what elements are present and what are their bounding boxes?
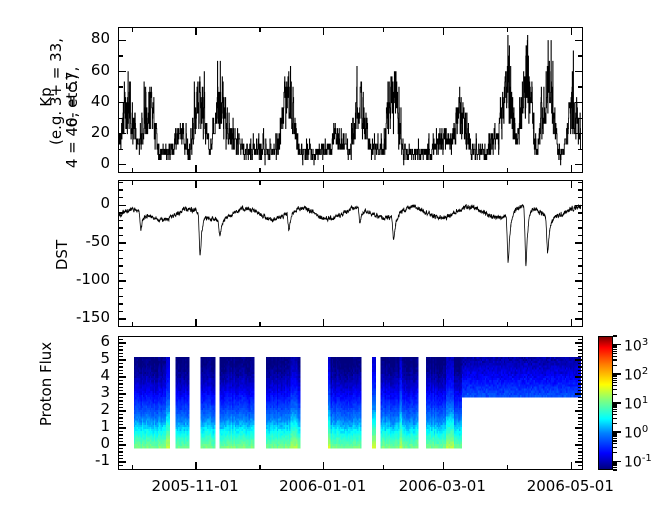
colorbar-tick-minor: [613, 447, 617, 448]
ytick-minor: [578, 197, 582, 198]
ytick-minor: [578, 356, 582, 357]
xtick-major: [443, 181, 444, 188]
ytick-minor: [578, 339, 582, 340]
xtick-minor: [383, 322, 384, 326]
ytick-minor: [119, 366, 123, 367]
colorbar-tick-minor: [613, 356, 617, 357]
ytick-minor: [119, 212, 123, 213]
ytick-major: [119, 242, 126, 243]
ytick-minor: [578, 451, 582, 452]
colorbar-tick-minor: [613, 394, 617, 395]
ytick-major: [119, 205, 126, 206]
ytick-major: [119, 164, 126, 165]
xtick-minor: [383, 465, 384, 469]
ytick-major: [575, 102, 582, 103]
ytick-label: 1: [52, 419, 110, 434]
colorbar-tick-minor: [613, 462, 617, 463]
xtick-major: [323, 319, 324, 326]
ytick-minor: [119, 288, 123, 289]
ytick-minor: [578, 250, 582, 251]
colorbar-tick-label: 103: [624, 336, 648, 354]
figure-canvas: 806040200 Kp (e.g. 3+ = 33, 6- = 57, 4 =…: [0, 0, 665, 523]
colorbar-tick-minor: [613, 349, 617, 350]
ytick-minor: [578, 227, 582, 228]
ytick-minor: [578, 363, 582, 364]
ytick-minor: [119, 451, 123, 452]
ytick-major: [119, 71, 126, 72]
ytick-minor: [119, 448, 123, 449]
xtick-minor: [132, 28, 133, 32]
xtick-major: [195, 319, 196, 326]
ytick-major: [575, 461, 582, 462]
ytick-minor: [119, 434, 123, 435]
ytick-minor: [578, 55, 582, 56]
ytick-minor: [578, 421, 582, 422]
ytick-major: [575, 444, 582, 445]
ytick-minor: [578, 465, 582, 466]
ytick-minor: [578, 311, 582, 312]
xtick-major: [195, 165, 196, 172]
ytick-major: [119, 133, 126, 134]
ytick-minor: [119, 349, 123, 350]
ytick-minor: [119, 424, 123, 425]
colorbar-tick-minor: [613, 452, 617, 453]
ytick-minor: [578, 296, 582, 297]
ytick-minor: [578, 288, 582, 289]
ytick-minor: [578, 265, 582, 266]
xtick-minor: [132, 181, 133, 185]
colorbar: 10310210110010-1: [598, 336, 613, 470]
colorbar-label-mantissa: 10: [624, 426, 642, 442]
ytick-minor: [578, 424, 582, 425]
colorbar-tick-label: 10-1: [624, 452, 652, 470]
ytick-minor: [119, 414, 123, 415]
ytick-minor: [119, 465, 123, 466]
colorbar-tick-minor: [613, 380, 617, 381]
ytick-label: 3: [52, 385, 110, 400]
ytick-major: [575, 410, 582, 411]
dst-trace: [119, 204, 581, 266]
colorbar-tick-minor: [613, 378, 617, 379]
ytick-minor: [119, 417, 123, 418]
ytick-major: [575, 393, 582, 394]
xtick-major: [571, 165, 572, 172]
colorbar-tick-minor: [613, 414, 617, 415]
xtick-minor: [383, 181, 384, 185]
xtick-major: [443, 28, 444, 35]
ytick-minor: [119, 441, 123, 442]
ytick-minor: [119, 182, 123, 183]
colorbar-label-exponent: 1: [642, 395, 648, 406]
ytick-minor: [119, 387, 123, 388]
spectrogram-block: [266, 357, 301, 449]
colorbar-label-exponent: -1: [642, 453, 652, 464]
colorbar-label-mantissa: 10: [624, 368, 642, 384]
colorbar-label-exponent: 0: [642, 424, 648, 435]
ytick-minor: [578, 86, 582, 87]
ytick-label: 0: [52, 156, 110, 171]
ytick-major: [119, 342, 126, 343]
colorbar-tick-minor: [613, 405, 617, 406]
ytick-minor: [578, 212, 582, 213]
ytick-major: [119, 376, 126, 377]
ytick-minor: [578, 458, 582, 459]
ytick-minor: [119, 400, 123, 401]
xtick-label: 2006-01-01: [273, 479, 373, 494]
xtick-minor: [259, 168, 260, 172]
colorbar-tick-minor: [613, 469, 617, 470]
ytick-minor: [119, 296, 123, 297]
ytick-major: [575, 242, 582, 243]
ytick-major: [575, 71, 582, 72]
ytick-label: 6: [52, 334, 110, 349]
ytick-minor: [578, 182, 582, 183]
spectrogram-block: [380, 357, 418, 449]
ytick-minor: [119, 303, 123, 304]
colorbar-label-exponent: 2: [642, 366, 648, 377]
xtick-major: [323, 181, 324, 188]
ytick-minor: [119, 404, 123, 405]
xtick-major: [443, 319, 444, 326]
ytick-major: [119, 102, 126, 103]
xtick-major: [571, 462, 572, 469]
xtick-major: [323, 165, 324, 172]
ytick-major: [575, 205, 582, 206]
proton-flux-axis-title: Proton Flux: [37, 336, 55, 432]
kp-axis-subtitle-3: 4 = 40, etc.): [63, 73, 81, 169]
ytick-major: [119, 461, 126, 462]
kp-panel: [118, 27, 583, 173]
colorbar-tick-minor: [613, 409, 617, 410]
ytick-minor: [578, 353, 582, 354]
dst-axis-title-text: DST: [53, 240, 71, 270]
ytick-minor: [119, 265, 123, 266]
xtick-major: [323, 28, 324, 35]
ytick-minor: [578, 448, 582, 449]
ytick-minor: [119, 455, 123, 456]
xtick-minor: [507, 181, 508, 185]
ytick-minor: [578, 414, 582, 415]
ytick-minor: [119, 353, 123, 354]
ytick-minor: [119, 383, 123, 384]
ytick-minor: [119, 273, 123, 274]
xtick-major: [323, 462, 324, 469]
xtick-major: [443, 165, 444, 172]
colorbar-tick-label: 102: [624, 365, 648, 383]
xtick-minor: [507, 322, 508, 326]
ytick-minor: [119, 438, 123, 439]
colorbar-tick-minor: [613, 434, 617, 435]
colorbar-tick-minor: [613, 376, 617, 377]
kp-series-plot: [119, 28, 581, 171]
ytick-minor: [119, 373, 123, 374]
ytick-minor: [119, 370, 123, 371]
colorbar-tick-minor: [613, 463, 617, 464]
colorbar-tick-minor: [613, 404, 617, 405]
ytick-minor: [578, 349, 582, 350]
xtick-minor: [259, 181, 260, 185]
ytick-minor: [578, 441, 582, 442]
ytick-major: [575, 342, 582, 343]
colorbar-tick-minor: [613, 365, 617, 366]
xtick-minor: [132, 465, 133, 469]
colorbar-tick-minor: [613, 407, 617, 408]
spectrogram-block: [220, 357, 255, 449]
xtick-minor: [507, 28, 508, 32]
ytick-minor: [119, 227, 123, 228]
dst-series-plot: [119, 181, 581, 325]
ytick-major: [119, 393, 126, 394]
colorbar-tick-minor: [613, 438, 617, 439]
spectrogram-block: [372, 357, 376, 449]
ytick-minor: [578, 417, 582, 418]
xtick-minor: [132, 322, 133, 326]
ytick-minor: [578, 404, 582, 405]
colorbar-gradient: [598, 336, 613, 470]
ytick-label: 2: [52, 402, 110, 417]
ytick-major: [119, 427, 126, 428]
ytick-major: [119, 318, 126, 319]
ytick-minor: [578, 303, 582, 304]
colorbar-tick-minor: [613, 467, 617, 468]
ytick-minor: [578, 118, 582, 119]
ytick-minor: [578, 397, 582, 398]
colorbar-tick-label: 101: [624, 394, 648, 412]
spectrogram-block: [328, 357, 362, 449]
ytick-minor: [119, 458, 123, 459]
ytick-minor: [578, 373, 582, 374]
xtick-minor: [259, 465, 260, 469]
kp-axis-subtitle-3-text: 4 = 40, etc.): [63, 74, 81, 168]
ytick-minor: [578, 149, 582, 150]
colorbar-tick-minor: [613, 443, 617, 444]
ytick-minor: [119, 258, 123, 259]
colorbar-tick-label: 100: [624, 423, 648, 441]
dst-panel: [118, 180, 583, 327]
ytick-minor: [119, 189, 123, 190]
xtick-minor: [383, 28, 384, 32]
ytick-minor: [578, 366, 582, 367]
ytick-major: [119, 444, 126, 445]
xtick-major: [195, 28, 196, 35]
dst-axis-title: DST: [53, 207, 71, 303]
ytick-minor: [119, 380, 123, 381]
colorbar-tick-minor: [613, 385, 617, 386]
spectrogram-block: [462, 357, 581, 398]
ytick-minor: [119, 421, 123, 422]
xtick-major: [195, 462, 196, 469]
ytick-minor: [578, 235, 582, 236]
colorbar-tick-minor: [613, 335, 617, 336]
xtick-minor: [132, 168, 133, 172]
colorbar-tick-minor: [613, 436, 617, 437]
ytick-label: 0: [52, 436, 110, 451]
ytick-minor: [119, 363, 123, 364]
ytick-minor: [119, 397, 123, 398]
ytick-minor: [578, 258, 582, 259]
xtick-label: 2005-11-01: [145, 479, 245, 494]
ytick-major: [575, 280, 582, 281]
ytick-major: [119, 40, 126, 41]
ytick-major: [119, 359, 126, 360]
ytick-minor: [119, 407, 123, 408]
ytick-minor: [578, 370, 582, 371]
kp-plot-area: [119, 28, 582, 172]
ytick-minor: [578, 431, 582, 432]
ytick-minor: [578, 400, 582, 401]
ytick-major: [119, 410, 126, 411]
colorbar-tick-minor: [613, 465, 617, 466]
ytick-minor: [119, 346, 123, 347]
xtick-major: [571, 28, 572, 35]
colorbar-tick-minor: [613, 423, 617, 424]
ytick-label: -150: [52, 310, 110, 325]
colorbar-tick-minor: [613, 359, 617, 360]
dst-plot-area: [119, 181, 582, 326]
xtick-major: [195, 181, 196, 188]
colorbar-tick-minor: [613, 345, 617, 346]
spectrogram-block: [175, 357, 189, 449]
xtick-major: [571, 319, 572, 326]
ytick-minor: [578, 387, 582, 388]
kp-trace: [119, 35, 581, 164]
ytick-minor: [119, 149, 123, 150]
ytick-minor: [119, 431, 123, 432]
colorbar-label-mantissa: 10: [624, 397, 642, 413]
ytick-minor: [119, 356, 123, 357]
proton-flux-plot-area: [119, 337, 582, 469]
ytick-major: [119, 280, 126, 281]
ytick-major: [575, 164, 582, 165]
ytick-minor: [578, 220, 582, 221]
xtick-minor: [259, 28, 260, 32]
colorbar-tick-minor: [613, 433, 617, 434]
proton-flux-panel: [118, 336, 583, 470]
ytick-minor: [578, 383, 582, 384]
xtick-major: [443, 462, 444, 469]
xtick-minor: [507, 465, 508, 469]
colorbar-tick-minor: [613, 411, 617, 412]
ytick-minor: [578, 407, 582, 408]
colorbar-label-mantissa: 10: [624, 338, 642, 354]
spectrogram-block: [134, 357, 170, 449]
ytick-minor: [578, 273, 582, 274]
spectrogram-block: [200, 357, 215, 449]
ytick-minor: [119, 235, 123, 236]
colorbar-label-exponent: 3: [642, 337, 648, 348]
xtick-major: [571, 181, 572, 188]
ytick-major: [575, 427, 582, 428]
proton-flux-spectrogram: [119, 337, 581, 468]
xtick-minor: [259, 322, 260, 326]
ytick-major: [575, 40, 582, 41]
spectrogram-block: [426, 357, 462, 449]
ytick-major: [575, 318, 582, 319]
colorbar-tick-minor: [613, 351, 617, 352]
colorbar-tick-minor: [613, 382, 617, 383]
ytick-minor: [578, 434, 582, 435]
ytick-minor: [578, 455, 582, 456]
xtick-minor: [507, 168, 508, 172]
ytick-minor: [578, 390, 582, 391]
colorbar-tick-minor: [613, 389, 617, 390]
ytick-label: 5: [52, 351, 110, 366]
colorbar-tick-minor: [613, 375, 617, 376]
ytick-minor: [578, 189, 582, 190]
colorbar-tick-minor: [613, 347, 617, 348]
proton-flux-axis-title-text: Proton Flux: [37, 342, 55, 426]
ytick-minor: [119, 311, 123, 312]
ytick-minor: [578, 438, 582, 439]
ytick-major: [575, 376, 582, 377]
ytick-minor: [578, 380, 582, 381]
colorbar-tick-minor: [613, 353, 617, 354]
ytick-minor: [119, 197, 123, 198]
ytick-minor: [119, 55, 123, 56]
xtick-minor: [383, 168, 384, 172]
ytick-minor: [119, 118, 123, 119]
ytick-label: 4: [52, 368, 110, 383]
ytick-label: -1: [52, 453, 110, 468]
ytick-minor: [578, 346, 582, 347]
ytick-major: [575, 359, 582, 360]
xtick-label: 2006-05-01: [520, 479, 620, 494]
colorbar-tick-minor: [613, 418, 617, 419]
xtick-label: 2006-03-01: [392, 479, 492, 494]
ytick-major: [575, 133, 582, 134]
ytick-minor: [119, 86, 123, 87]
colorbar-tick-minor: [613, 440, 617, 441]
ytick-minor: [119, 250, 123, 251]
ytick-minor: [119, 220, 123, 221]
ytick-minor: [119, 390, 123, 391]
colorbar-label-mantissa: 10: [624, 455, 642, 471]
ytick-minor: [119, 339, 123, 340]
